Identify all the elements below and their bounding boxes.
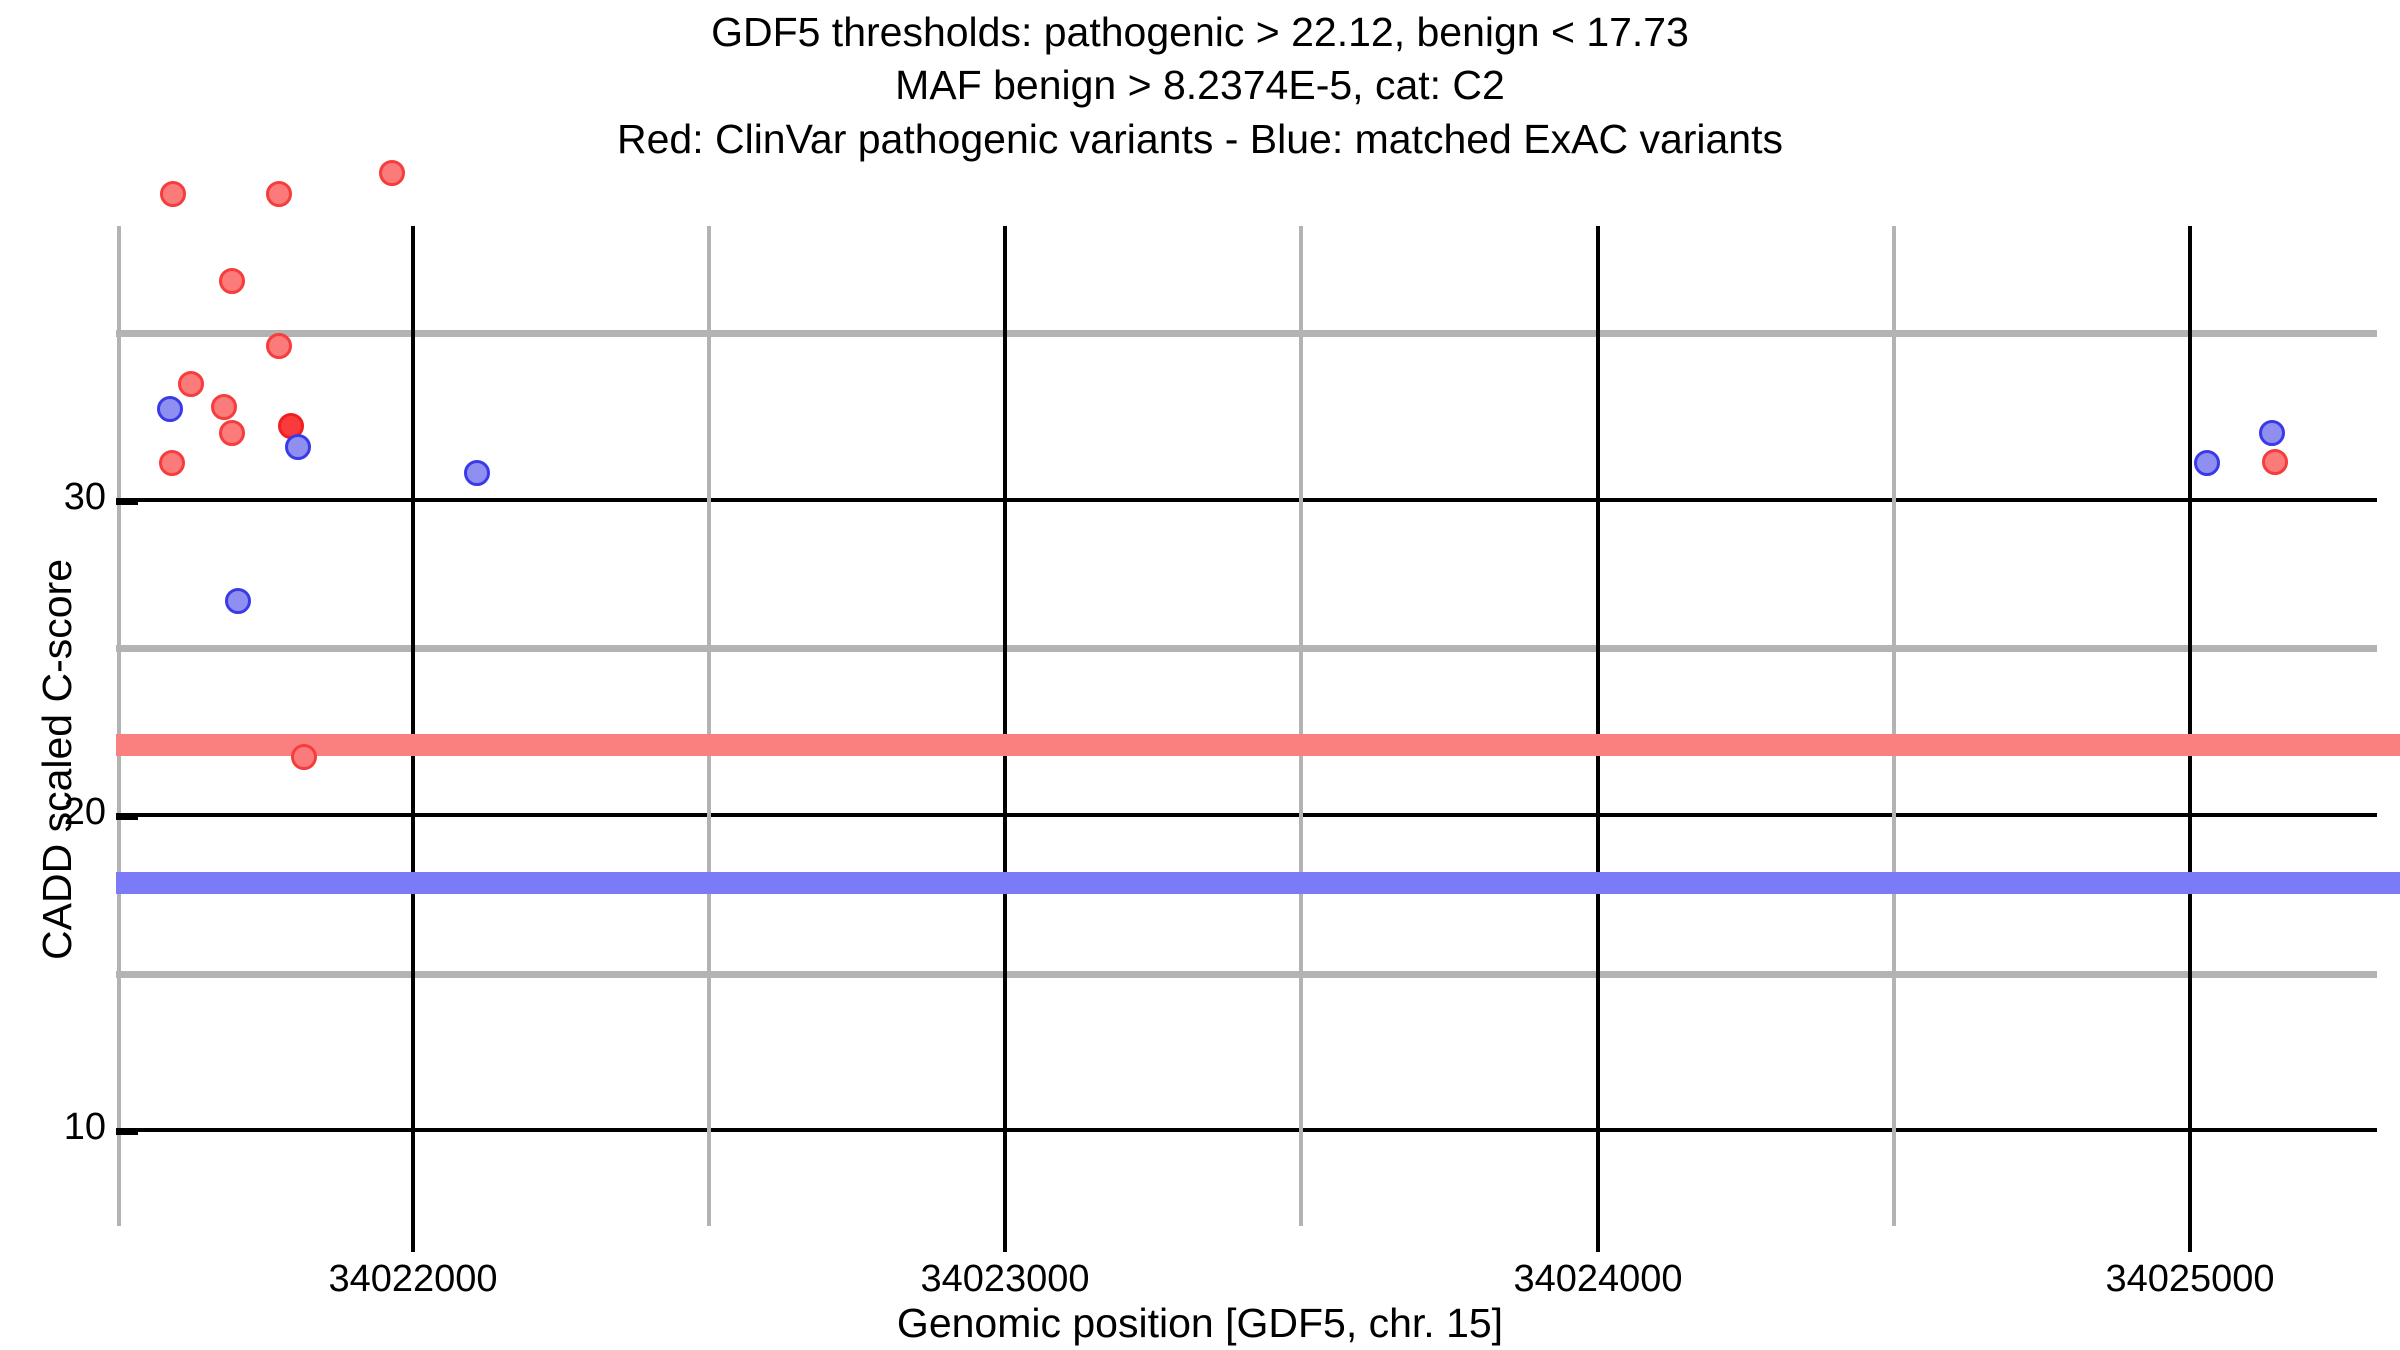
chart-canvas: GDF5 thresholds: pathogenic > 22.12, ben… [0,0,2400,1350]
xtick-mark-34022000 [411,1226,415,1252]
data-point-benign[interactable] [225,588,251,614]
gridline-x-34024000 [1596,226,1600,1226]
xtick-label-34025000: 34025000 [2040,1258,2340,1301]
gridline-x-34025000 [2188,226,2192,1226]
gridline-y-15 [116,971,2377,978]
gridline-y-35 [116,330,2377,337]
data-point-benign[interactable] [157,396,183,422]
gridline-y-20 [116,813,2377,817]
data-point-benign[interactable] [2194,450,2220,476]
data-point-pathogenic[interactable] [219,268,245,294]
gridline-x-34022000 [411,226,415,1226]
data-point-pathogenic[interactable] [219,420,245,446]
xtick-mark-34024000 [1596,1226,1600,1252]
ytick-label-10: 10 [0,1106,106,1149]
data-point-benign[interactable] [285,434,311,460]
threshold-band-benign [116,872,2400,894]
x-axis-label: Genomic position [GDF5, chr. 15] [0,1300,2400,1347]
gridline-y-10 [116,1128,2377,1132]
ytick-label-30: 30 [0,476,106,519]
xtick-label-34022000: 34022000 [263,1258,563,1301]
plot-area: 30 20 10 34022000 34023000 34024000 3402… [0,0,2400,1350]
data-point-pathogenic[interactable] [266,333,292,359]
gridline-y-25 [116,645,2377,652]
gridline-x-34021500 [117,226,121,1226]
ytick-mark-10 [116,1128,138,1135]
data-point-pathogenic[interactable] [2262,449,2288,475]
threshold-band-pathogenic [116,734,2400,756]
ytick-mark-20 [116,813,138,820]
xtick-mark-34025000 [2188,1226,2192,1252]
data-point-pathogenic[interactable] [211,394,237,420]
data-point-benign[interactable] [2259,420,2285,446]
gridline-x-34023500 [1299,226,1303,1226]
data-point-pathogenic[interactable] [266,181,292,207]
gridline-y-30 [116,498,2377,502]
data-point-pathogenic[interactable] [178,371,204,397]
xtick-label-34024000: 34024000 [1448,1258,1748,1301]
ytick-mark-30 [116,498,138,505]
gridline-x-34024500 [1892,226,1896,1226]
data-point-pathogenic[interactable] [160,181,186,207]
gridline-x-34023000 [1003,226,1007,1226]
y-axis-label: CADD scaled C-score [34,559,81,960]
xtick-mark-34023000 [1003,1226,1007,1252]
xtick-label-34023000: 34023000 [855,1258,1155,1301]
data-point-pathogenic[interactable] [379,160,405,186]
data-point-pathogenic[interactable] [159,450,185,476]
gridline-x-34022500 [707,226,711,1226]
data-point-pathogenic[interactable] [291,744,317,770]
data-point-benign[interactable] [464,460,490,486]
